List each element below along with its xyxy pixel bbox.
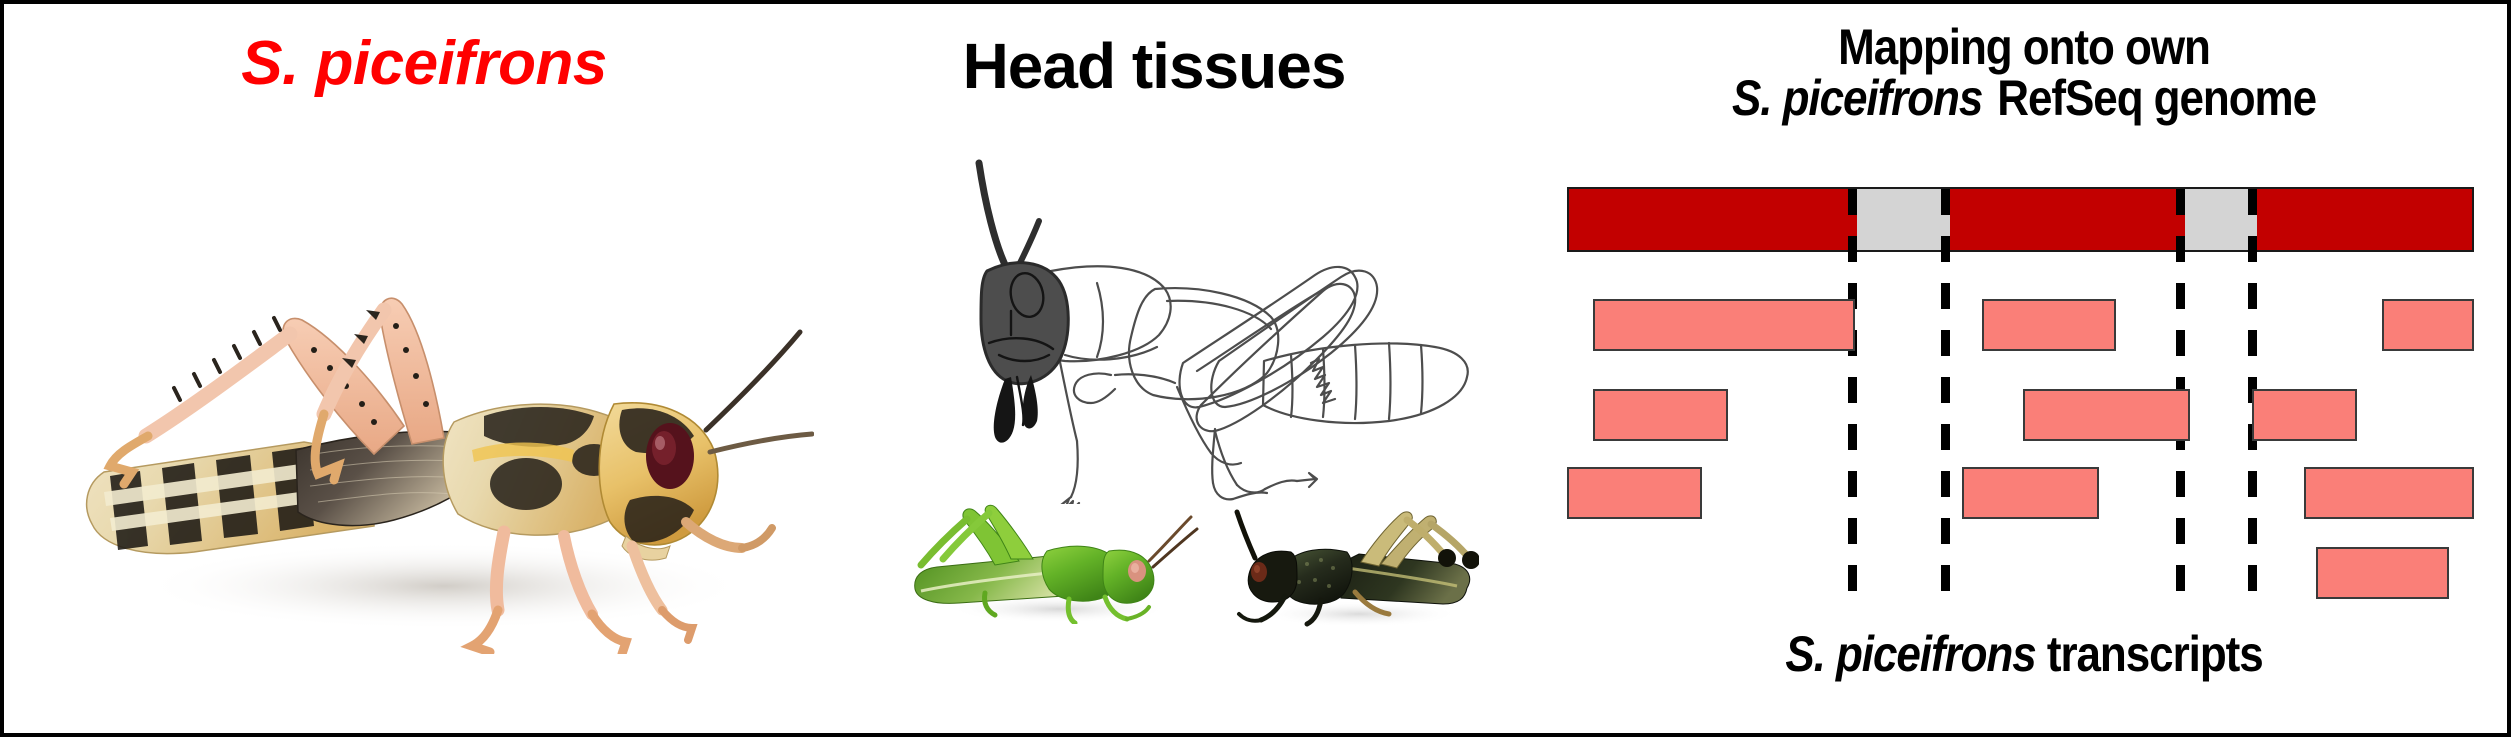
head-tissues-title: Head tissues xyxy=(844,34,1464,99)
reference-genome-bar xyxy=(1567,187,2474,252)
genome-segment xyxy=(1950,189,2185,250)
mapping-title-line-2: S. piceifronsRefSeq genome xyxy=(1602,73,2447,124)
transcript-block xyxy=(2316,547,2449,599)
mapping-title-line-1: Mapping onto own xyxy=(1602,22,2447,73)
transcript-block xyxy=(1567,467,1702,519)
mapping-title-species: S. piceifrons xyxy=(1732,70,1982,126)
transcript-block xyxy=(2304,467,2474,519)
transcript-block xyxy=(1962,467,2099,519)
transcript-block xyxy=(2382,299,2474,351)
genome-segment xyxy=(1569,189,1857,250)
transcripts-caption-rest: transcripts xyxy=(2047,626,2263,682)
head-shaded-region xyxy=(981,263,1068,384)
transcript-block xyxy=(1982,299,2116,351)
locust-photograph xyxy=(74,154,814,654)
gap-separator-line xyxy=(1848,189,1857,601)
mapping-title: Mapping onto own S. piceifronsRefSeq gen… xyxy=(1602,22,2447,124)
transcript-block xyxy=(2023,389,2190,441)
transcript-block xyxy=(1593,389,1728,441)
species-title: S. piceifrons xyxy=(64,32,784,95)
grasshopper-head-diagram xyxy=(919,149,1499,504)
graphical-abstract-figure: S. piceifrons xyxy=(0,0,2511,737)
transcripts-caption-species: S. piceifrons xyxy=(1785,626,2035,682)
mapping-title-rest: RefSeq genome xyxy=(1997,70,2316,126)
black-morph-photo xyxy=(1229,504,1479,629)
green-morph-photo xyxy=(909,499,1199,624)
transcripts-caption: S. piceifrons transcripts xyxy=(1602,629,2447,680)
genome-segment xyxy=(2257,189,2474,250)
transcript-block xyxy=(1593,299,1855,351)
gap-separator-line xyxy=(1941,189,1950,601)
transcript-block xyxy=(2252,389,2357,441)
